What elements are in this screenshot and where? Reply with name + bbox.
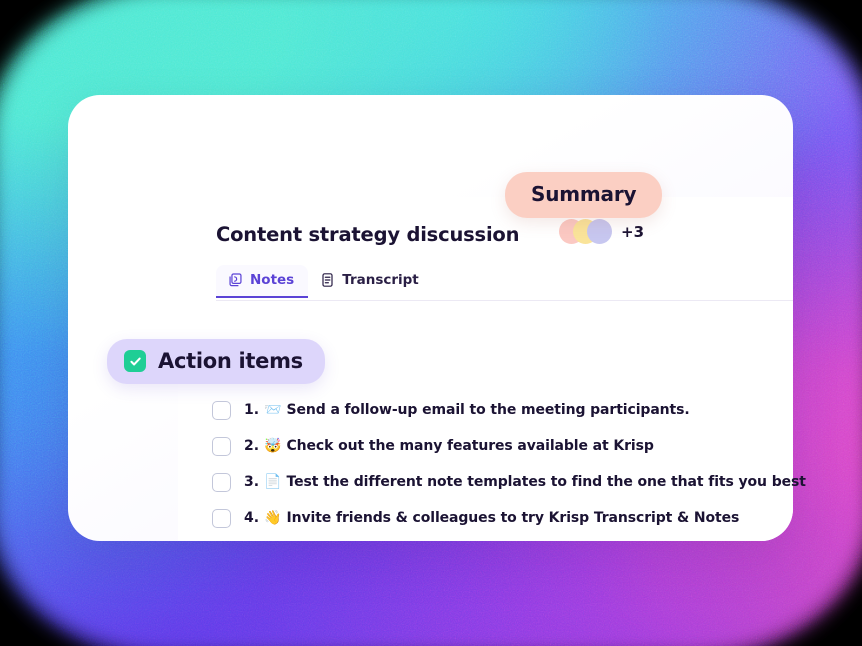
task-number: 1. — [244, 402, 259, 418]
task-text: Check out the many features available at… — [287, 438, 654, 454]
tab-transcript-label: Transcript — [342, 272, 419, 288]
task-number: 4. — [244, 510, 259, 526]
task-checkbox[interactable] — [212, 437, 231, 456]
list-item[interactable]: 2. 🤯 Check out the many features availab… — [212, 428, 822, 464]
task-text: Test the different note templates to fin… — [287, 474, 806, 490]
action-items-label: Action items — [158, 349, 303, 373]
action-items-list: 1. 📨 Send a follow-up email to the meeti… — [212, 392, 822, 536]
task-emoji: 📨 — [264, 402, 281, 418]
tabs-divider — [216, 300, 793, 301]
list-item[interactable]: 3. 📄 Test the different note templates t… — [212, 464, 822, 500]
list-item[interactable]: 1. 📨 Send a follow-up email to the meeti… — [212, 392, 822, 428]
task-checkbox[interactable] — [212, 473, 231, 492]
screenshot-stage: Content strategy discussion +3 — [0, 0, 862, 646]
tab-transcript[interactable]: Transcript — [308, 265, 433, 298]
summary-badge[interactable]: Summary — [505, 172, 662, 218]
tab-notes[interactable]: Notes — [216, 265, 308, 298]
task-text: Send a follow-up email to the meeting pa… — [287, 402, 690, 418]
avatar-stack[interactable]: +3 — [559, 219, 644, 244]
task-checkbox[interactable] — [212, 509, 231, 528]
document-list-icon — [320, 272, 335, 288]
task-emoji: 🤯 — [264, 438, 281, 454]
task-text: Invite friends & colleagues to try Krisp… — [287, 510, 740, 526]
checkbox-checked-icon — [124, 350, 146, 372]
action-items-badge: Action items — [107, 339, 325, 384]
task-checkbox[interactable] — [212, 401, 231, 420]
task-number: 3. — [244, 474, 259, 490]
task-number: 2. — [244, 438, 259, 454]
avatar — [587, 219, 612, 244]
task-emoji: 👋 — [264, 510, 281, 526]
avatar-overflow-count: +3 — [621, 223, 644, 241]
sticky-note-icon — [228, 272, 243, 288]
page-title: Content strategy discussion — [216, 223, 519, 246]
tab-bar: Notes Transcript — [216, 265, 433, 298]
tab-notes-label: Notes — [250, 272, 294, 288]
list-item[interactable]: 4. 👋 Invite friends & colleagues to try … — [212, 500, 822, 536]
task-emoji: 📄 — [264, 474, 281, 490]
